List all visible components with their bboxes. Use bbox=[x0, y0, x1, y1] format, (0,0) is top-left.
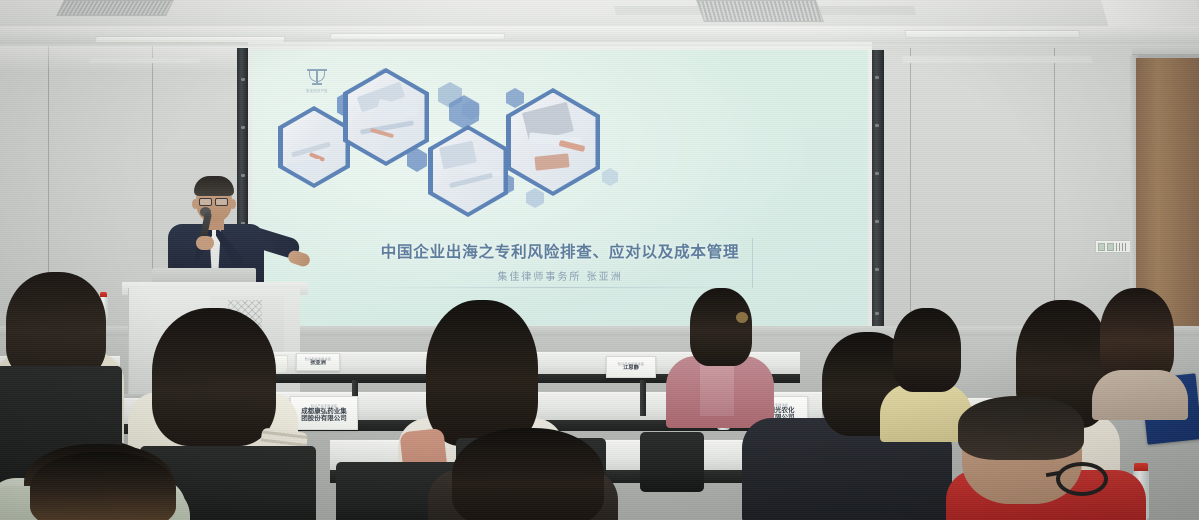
bottle-cap-icon bbox=[1134, 463, 1148, 471]
ceiling-light-icon bbox=[904, 30, 1080, 38]
hair-clip-icon bbox=[736, 312, 748, 323]
audience-hair bbox=[452, 428, 604, 520]
audience-hair bbox=[893, 308, 961, 392]
slide-title: 中国企业出海之专利风险排查、应对以及成本管理 bbox=[252, 240, 868, 262]
slide-underline bbox=[370, 287, 750, 288]
ceiling-vent-icon bbox=[56, 0, 174, 16]
table-leg bbox=[640, 380, 646, 416]
hexagon-accent bbox=[506, 88, 524, 108]
placard-speaker: 知识产权专题讲座 张亚洲 bbox=[296, 353, 340, 371]
hexagon-accent bbox=[602, 168, 618, 186]
hexagon-photo-inner bbox=[511, 93, 596, 192]
hexagon-photo-inner bbox=[283, 111, 346, 184]
control-display-icon bbox=[1107, 243, 1114, 251]
glasses-icon bbox=[215, 198, 228, 206]
placard-text: 江思静 bbox=[623, 366, 639, 372]
presenter-hair bbox=[194, 176, 234, 196]
bottle-cap-icon bbox=[100, 292, 107, 297]
placard-audience-left: 知识产权专题讲座 成都康弘药业集 团股份有限公司 bbox=[290, 396, 358, 430]
hexagon-photo bbox=[278, 106, 350, 188]
placard-audience-center: 知识产权专题讲座 江思静 bbox=[606, 356, 656, 378]
wall-trim bbox=[89, 58, 200, 63]
audience-hair bbox=[152, 308, 276, 446]
ceiling-vent-icon bbox=[696, 0, 824, 22]
slide-hexagon-graphic bbox=[252, 50, 868, 250]
hexagon-photo-inner bbox=[433, 130, 504, 213]
ceiling-skylight bbox=[1101, 0, 1199, 28]
presenter-ear bbox=[192, 199, 198, 209]
ceiling-light-icon bbox=[330, 33, 506, 40]
glasses-icon bbox=[199, 198, 212, 206]
glasses-icon bbox=[1056, 462, 1108, 496]
audience-hair bbox=[426, 300, 538, 446]
hexagon-photo-inner bbox=[348, 73, 425, 162]
control-display-icon bbox=[1098, 243, 1105, 251]
presenter-hand-holding-mic bbox=[196, 236, 214, 250]
conference-room-photo: 集佳知识产权 bbox=[0, 0, 1199, 520]
hexagon-photo bbox=[428, 125, 508, 217]
hexagon-accent bbox=[526, 188, 544, 208]
wall-control-panel[interactable] bbox=[1095, 240, 1131, 253]
chair bbox=[640, 432, 704, 492]
audience-hair bbox=[958, 396, 1084, 460]
audience-hair bbox=[690, 288, 752, 366]
presenter-ear bbox=[230, 199, 236, 209]
control-switches-icon bbox=[1116, 243, 1128, 251]
placard-text: 张亚洲 bbox=[310, 361, 326, 367]
wall-column-right bbox=[871, 50, 884, 350]
placard-text: 成都康弘药业集 团股份有限公司 bbox=[301, 408, 347, 423]
audience-hair bbox=[30, 452, 176, 520]
audience-hair bbox=[6, 272, 106, 380]
projection-screen: 集佳知识产权 bbox=[252, 50, 868, 342]
wall-trim bbox=[901, 56, 1092, 63]
slide-subtitle: 集佳律师事务所 张亚洲 bbox=[252, 268, 868, 283]
audience-torso bbox=[1092, 370, 1188, 420]
